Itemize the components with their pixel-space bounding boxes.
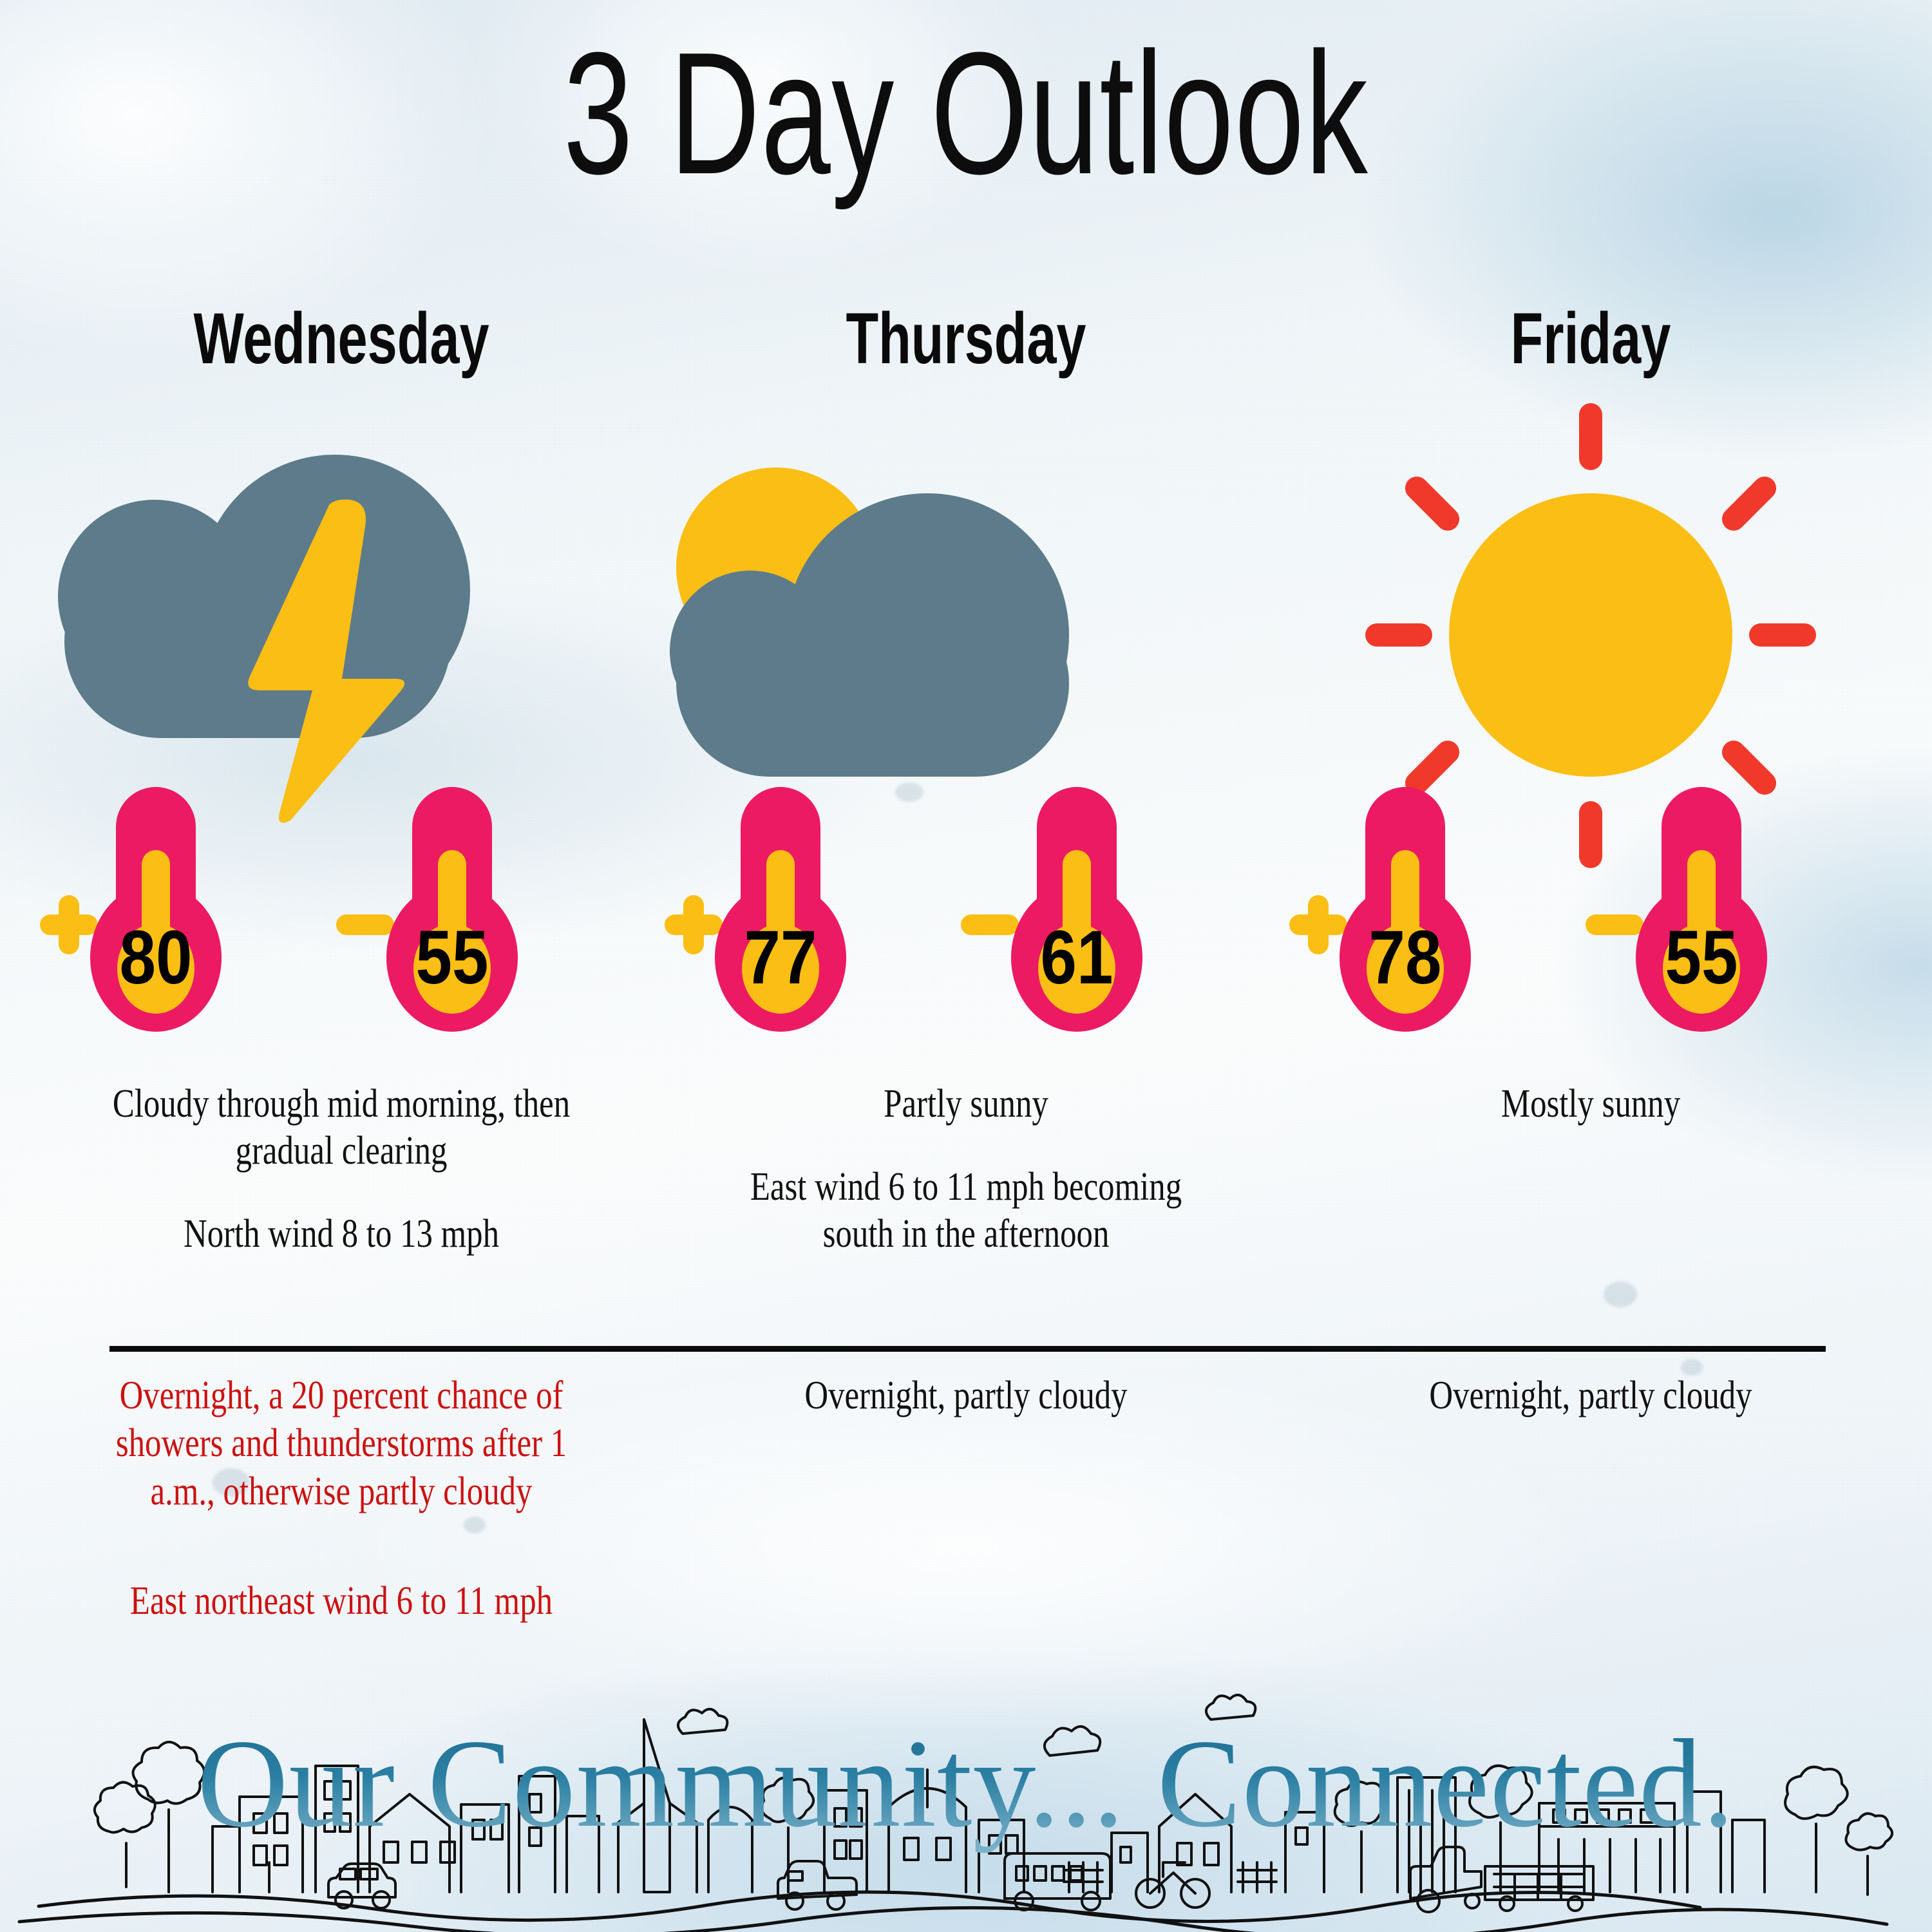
day-column-wednesday: Wednesday 80 — [39, 303, 644, 1258]
day-name-friday: Friday — [1367, 303, 1815, 375]
forecast-text-thursday: Partly sunny — [718, 1081, 1215, 1128]
wind-text-thursday: East wind 6 to 11 mph becoming south in … — [718, 1164, 1215, 1258]
forecast-text-friday: Mostly sunny — [1343, 1081, 1839, 1128]
day-name-wednesday: Wednesday — [117, 303, 565, 375]
cloud-body-icon — [676, 590, 1069, 777]
day-name-thursday: Thursday — [742, 303, 1190, 375]
section-divider — [109, 1346, 1826, 1352]
day-column-friday: Friday 78 — [1288, 303, 1893, 1164]
page-title: 3 Day Outlook — [270, 27, 1662, 201]
lightning-bolt-icon — [203, 493, 415, 835]
high-temperature-value: 77 — [713, 920, 848, 996]
low-temperature-value: 55 — [384, 920, 520, 996]
temperature-group-friday: 78 55 — [1288, 787, 1893, 1064]
infographic-canvas: 3 Day Outlook Wednesday 80 — [0, 0, 1932, 1932]
overnight-wind-wednesday: East northeast wind 6 to 11 mph — [93, 1577, 590, 1625]
overnight-column-wednesday: Overnight, a 20 percent chance of shower… — [39, 1372, 644, 1625]
sun-ray-n-icon — [1579, 403, 1602, 470]
weather-icon-sun-behind-cloud — [663, 397, 1269, 796]
weather-icon-thunderstorm — [39, 397, 644, 796]
high-temperature-value: 78 — [1338, 920, 1473, 996]
wind-text-wednesday: North wind 8 to 13 mph — [93, 1211, 590, 1258]
forecast-text-wednesday: Cloudy through mid morning, then gradual… — [93, 1081, 590, 1175]
temperature-group-wednesday: 80 55 — [39, 787, 644, 1064]
footer: Our Community... Connected. — [0, 1694, 1932, 1932]
overnight-column-friday: Overnight, partly cloudy — [1288, 1372, 1893, 1419]
temperature-group-thursday: 77 61 — [663, 787, 1269, 1064]
high-temperature-value: 80 — [88, 920, 223, 996]
paper-blot — [1604, 1282, 1637, 1307]
low-temperature-value: 61 — [1009, 920, 1144, 996]
tagline: Our Community... Connected. — [0, 1721, 1932, 1847]
weather-icon-sun — [1288, 397, 1893, 796]
sun-ray-w-icon — [1365, 623, 1432, 647]
low-temperature-value: 55 — [1634, 920, 1769, 996]
day-column-thursday: Thursday 77 61 — [663, 303, 1269, 1258]
sun-ray-ne-icon — [1718, 472, 1781, 536]
tagline-text: Our Community... Connected. — [197, 1714, 1735, 1853]
overnight-text-friday: Overnight, partly cloudy — [1343, 1372, 1839, 1419]
sun-ray-e-icon — [1749, 623, 1816, 647]
overnight-text-wednesday: Overnight, a 20 percent chance of shower… — [93, 1372, 590, 1515]
overnight-column-thursday: Overnight, partly cloudy — [663, 1372, 1269, 1419]
sun-ray-nw-icon — [1401, 472, 1464, 536]
overnight-text-thursday: Overnight, partly cloudy — [718, 1372, 1215, 1419]
sun-disc-icon — [1449, 493, 1732, 777]
